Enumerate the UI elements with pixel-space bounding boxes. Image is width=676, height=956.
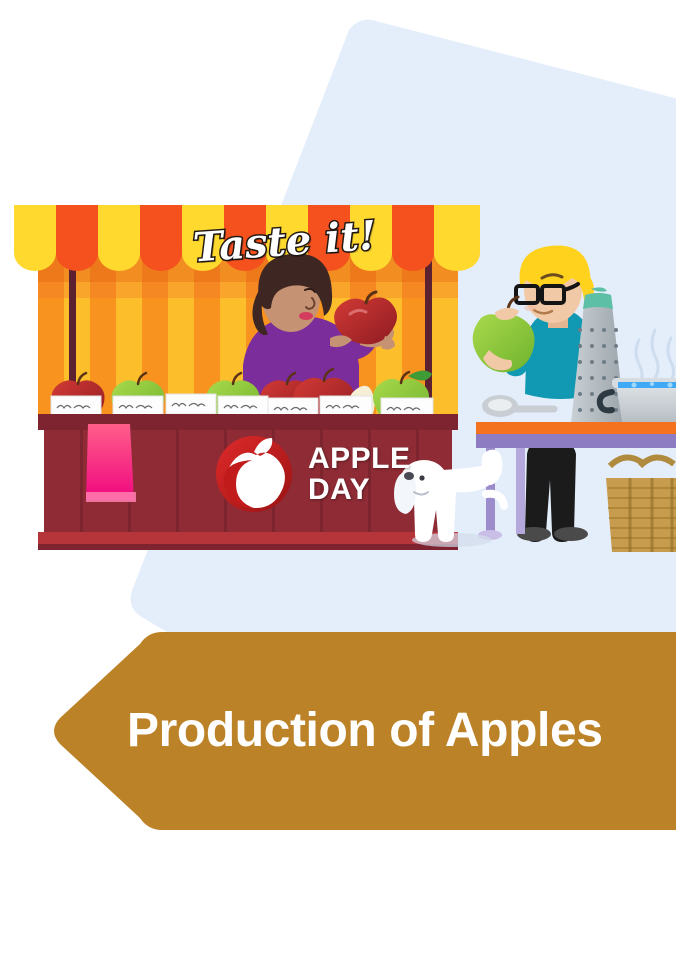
label-card	[113, 396, 163, 416]
apple-day-wordmark: APPLE DAY	[308, 443, 411, 505]
counter-cloth	[86, 424, 136, 502]
apple-day-line-2: DAY	[308, 474, 411, 505]
spoon-icon	[482, 395, 554, 417]
label-card	[51, 396, 101, 416]
wicker-basket	[606, 457, 676, 552]
apple-day-line-1: APPLE	[308, 443, 411, 474]
stall-awning	[14, 205, 480, 271]
label-card	[320, 396, 372, 416]
cook-head	[516, 246, 594, 323]
apple-day-logo	[216, 436, 292, 512]
steam-icon	[636, 330, 674, 384]
cook-legs	[517, 440, 588, 542]
label-card	[218, 396, 268, 416]
page-title: Production of Apples	[127, 707, 603, 755]
label-card	[166, 394, 216, 414]
title-banner: Production of Apples	[52, 632, 676, 830]
poster-canvas: Taste it! APPLE DAY Production of Apples	[0, 0, 676, 956]
